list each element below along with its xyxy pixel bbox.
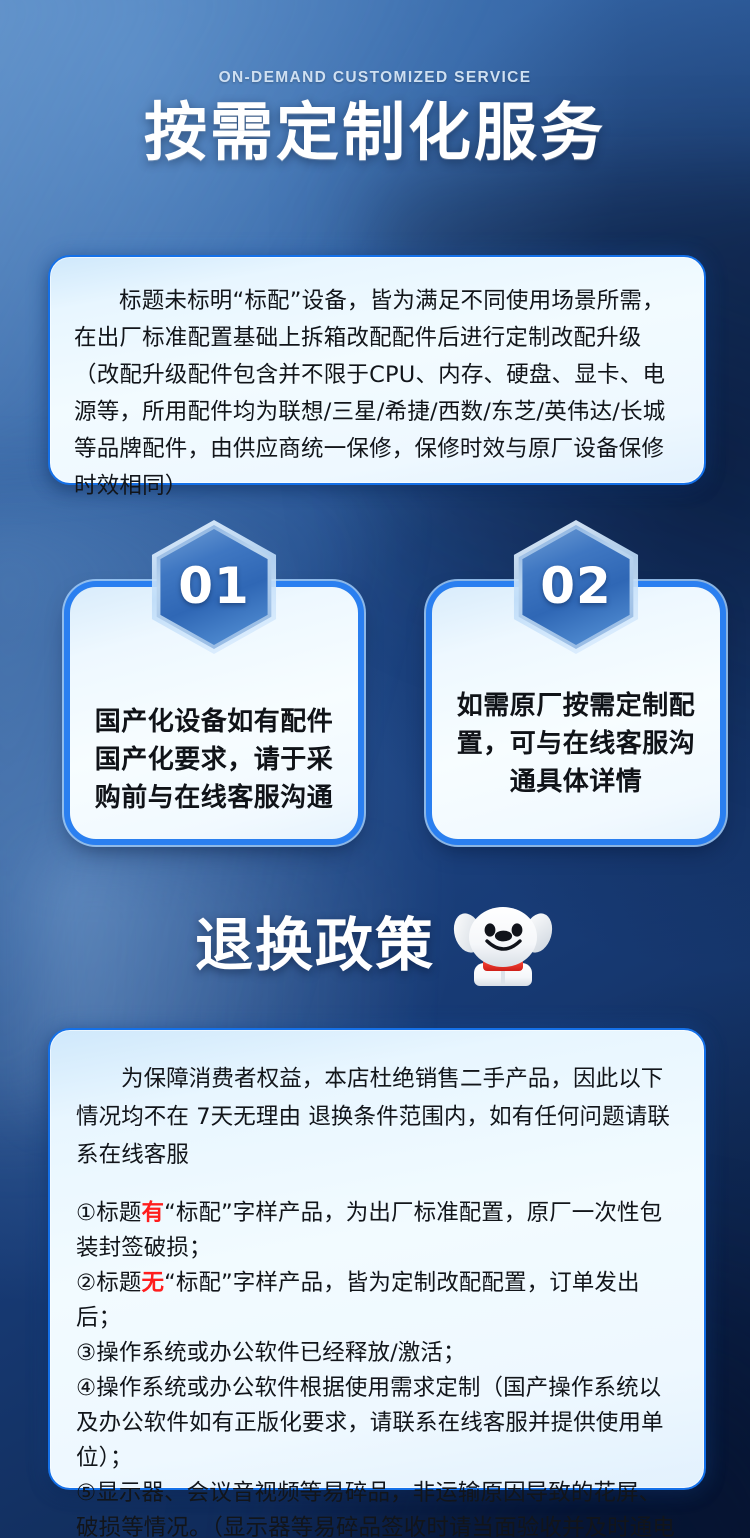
hexagon-badge-02: 02 — [510, 520, 642, 654]
card-number-01: 01 — [178, 557, 250, 615]
info-card-02: 02 如需原厂按需定制配置，可与在线客服沟通具体详情 — [432, 587, 720, 839]
info-card-01-text: 国产化设备如有配件国产化要求，请于采购前与在线客服沟通 — [70, 703, 358, 817]
promo-page: ON-DEMAND CUSTOMIZED SERVICE 按需定制化服务 标题未… — [0, 0, 750, 1538]
info-card-01: 01 国产化设备如有配件国产化要求，请于采购前与在线客服沟通 — [70, 587, 358, 839]
policy-item-highlight: 有 — [141, 1200, 164, 1226]
header-eyebrow: ON-DEMAND CUSTOMIZED SERVICE — [0, 69, 750, 87]
policy-list-item: ③操作系统或办公软件已经释放/激活； — [76, 1336, 678, 1371]
policy-list-item: ②标题无“标配”字样产品，皆为定制改配配置，订单发出后； — [76, 1266, 678, 1336]
intro-text: 标题未标明“标配”设备，皆为满足不同使用场景所需，在出厂标准配置基础上拆箱改配配… — [50, 257, 704, 505]
hexagon-badge-01: 01 — [148, 520, 280, 654]
info-card-02-text: 如需原厂按需定制配置，可与在线客服沟通具体详情 — [432, 687, 720, 801]
policy-intro-text: 为保障消费者权益，本店杜绝销售二手产品，因此以下情况均不在 7天无理由 退换条件… — [76, 1060, 678, 1174]
policy-item-prefix: ⑤显示器、会议音视频等易碎品，非运输原因导致的花屏、破损等情况。（显示器等易碎品… — [76, 1480, 675, 1538]
policy-list-item: ①标题有“标配”字样产品，为出厂标准配置，原厂一次性包装封签破损； — [76, 1196, 678, 1266]
policy-body: 为保障消费者权益，本店杜绝销售二手产品，因此以下情况均不在 7天无理由 退换条件… — [50, 1030, 704, 1538]
policy-panel: 为保障消费者权益，本店杜绝销售二手产品，因此以下情况均不在 7天无理由 退换条件… — [48, 1028, 706, 1490]
page-header: ON-DEMAND CUSTOMIZED SERVICE 按需定制化服务 — [0, 0, 750, 164]
policy-list-item: ④操作系统或办公软件根据使用需求定制（国产操作系统以及办公软件如有正版化要求，请… — [76, 1371, 678, 1476]
card-number-02: 02 — [540, 557, 612, 615]
policy-heading: 退换政策 — [0, 893, 750, 997]
policy-item-prefix: ②标题 — [76, 1270, 141, 1296]
policy-item-suffix: “标配”字样产品，为出厂标准配置，原厂一次性包装封签破损； — [76, 1200, 662, 1261]
page-title: 按需定制化服务 — [0, 101, 750, 164]
policy-list: ①标题有“标配”字样产品，为出厂标准配置，原厂一次性包装封签破损； ②标题无“标… — [76, 1196, 678, 1538]
policy-item-highlight: 无 — [141, 1270, 164, 1296]
policy-item-prefix: ④操作系统或办公软件根据使用需求定制（国产操作系统以及办公软件如有正版化要求，请… — [76, 1375, 664, 1471]
policy-item-prefix: ①标题 — [76, 1200, 141, 1226]
policy-list-item: ⑤显示器、会议音视频等易碎品，非运输原因导致的花屏、破损等情况。（显示器等易碎品… — [76, 1476, 678, 1538]
jd-joy-dog-icon — [451, 897, 555, 997]
policy-title: 退换政策 — [195, 916, 435, 974]
intro-panel: 标题未标明“标配”设备，皆为满足不同使用场景所需，在出厂标准配置基础上拆箱改配配… — [48, 255, 706, 485]
policy-item-prefix: ③操作系统或办公软件已经释放/激活； — [76, 1340, 466, 1366]
